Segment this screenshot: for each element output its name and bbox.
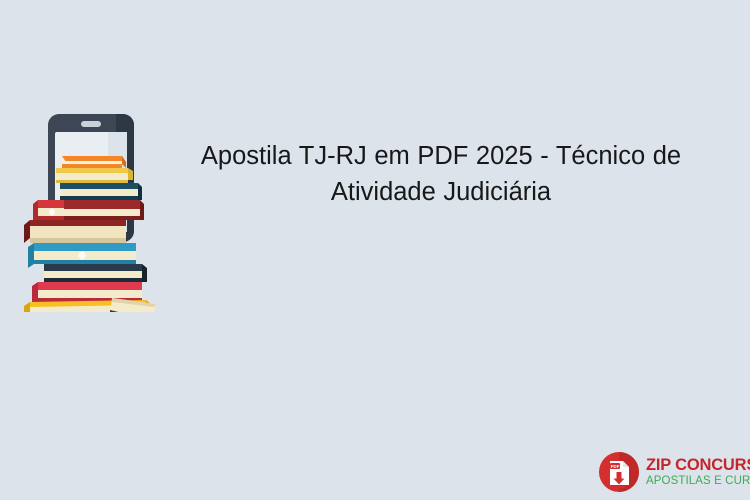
book-layer-cream-thick [24, 220, 126, 243]
promo-banner: Apostila TJ-RJ em PDF 2025 - Técnico de … [0, 0, 750, 500]
pdf-download-icon: PDF [598, 451, 640, 493]
page-title: Apostila TJ-RJ em PDF 2025 - Técnico de … [158, 138, 724, 210]
brand-name: ZIP CONCURSOS [646, 457, 750, 474]
book-layer-slate [44, 264, 147, 282]
svg-text:PDF: PDF [611, 464, 620, 469]
page-title-text: Apostila TJ-RJ em PDF 2025 - Técnico de … [158, 138, 724, 210]
brand-tagline: APOSTILAS E CURSOS [646, 476, 750, 488]
book-layer-yellow-cream [56, 168, 133, 183]
book-layer-maroon [64, 200, 144, 220]
book-layer-top-orange [62, 156, 126, 168]
brand-logo: PDF ZIP CONCURSOS APOSTILAS E CURSOS [598, 449, 744, 495]
book-layer-navy [60, 183, 142, 200]
brand-logo-wordmark: ZIP CONCURSOS APOSTILAS E CURSOS [646, 457, 750, 488]
